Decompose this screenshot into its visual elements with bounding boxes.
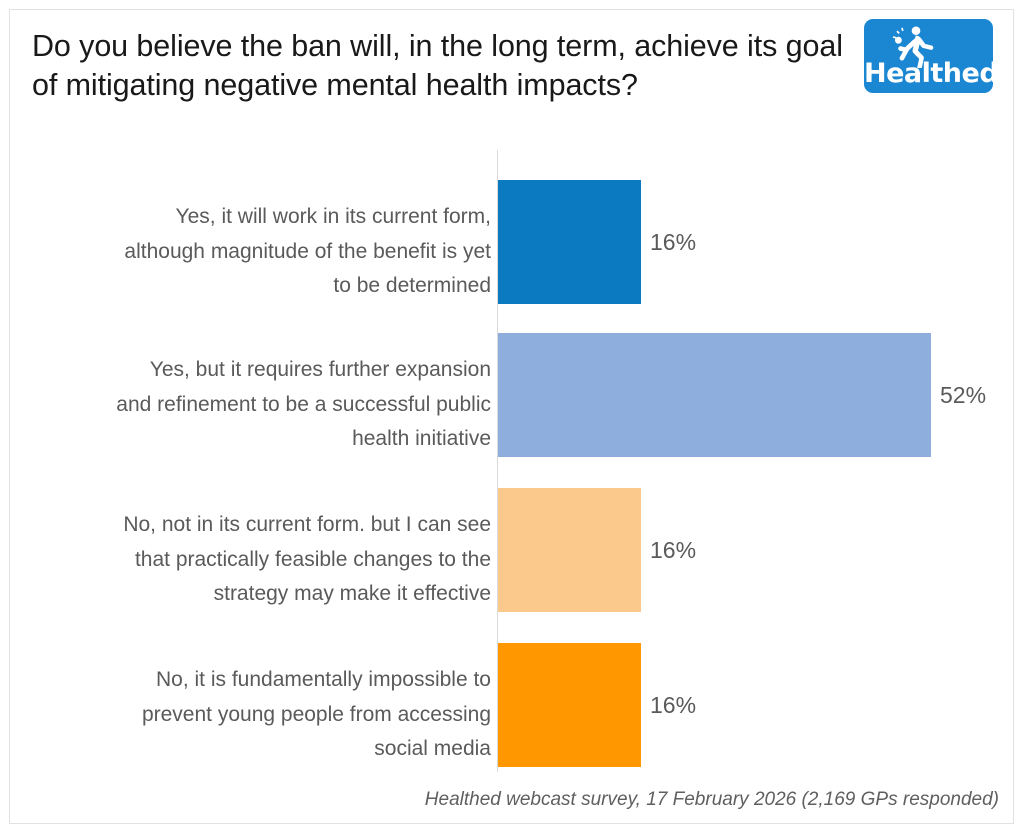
category-label: No, not in its current form. but I can s…: [21, 508, 491, 612]
category-label-line: although magnitude of the benefit is yet: [21, 235, 491, 270]
bar-segment[interactable]: [498, 333, 931, 457]
category-label: No, it is fundamentally impossible to pr…: [21, 663, 491, 767]
bar-value-label: 16%: [650, 539, 696, 562]
category-label-line: and refinement to be a successful public: [21, 388, 491, 423]
bar-chart: Yes, it will work in its current form, a…: [10, 10, 1015, 825]
bar-value-label: 16%: [650, 694, 696, 717]
category-label-line: that practically feasible changes to the: [21, 543, 491, 578]
bar-segment[interactable]: [498, 488, 641, 612]
source-caption: Healthed webcast survey, 17 February 202…: [425, 789, 999, 811]
bar-segment[interactable]: [498, 643, 641, 767]
slide-canvas: Do you believe the ban will, in the long…: [9, 9, 1014, 824]
bar-segment[interactable]: [498, 180, 641, 304]
category-label-line: health initiative: [21, 422, 491, 457]
category-label-line: Yes, it will work in its current form,: [21, 200, 491, 235]
category-label-line: to be determined: [21, 269, 491, 304]
category-label-line: strategy may make it effective: [21, 577, 491, 612]
category-label-line: No, it is fundamentally impossible to: [21, 663, 491, 698]
bar-value-label: 52%: [940, 384, 986, 407]
category-label-line: prevent young people from accessing: [21, 698, 491, 733]
category-label: Yes, but it requires further expansion a…: [21, 353, 491, 457]
category-label-line: social media: [21, 732, 491, 767]
bar-value-label: 16%: [650, 231, 696, 254]
category-label-line: Yes, but it requires further expansion: [21, 353, 491, 388]
category-label-line: No, not in its current form. but I can s…: [21, 508, 491, 543]
category-label: Yes, it will work in its current form, a…: [21, 200, 491, 304]
